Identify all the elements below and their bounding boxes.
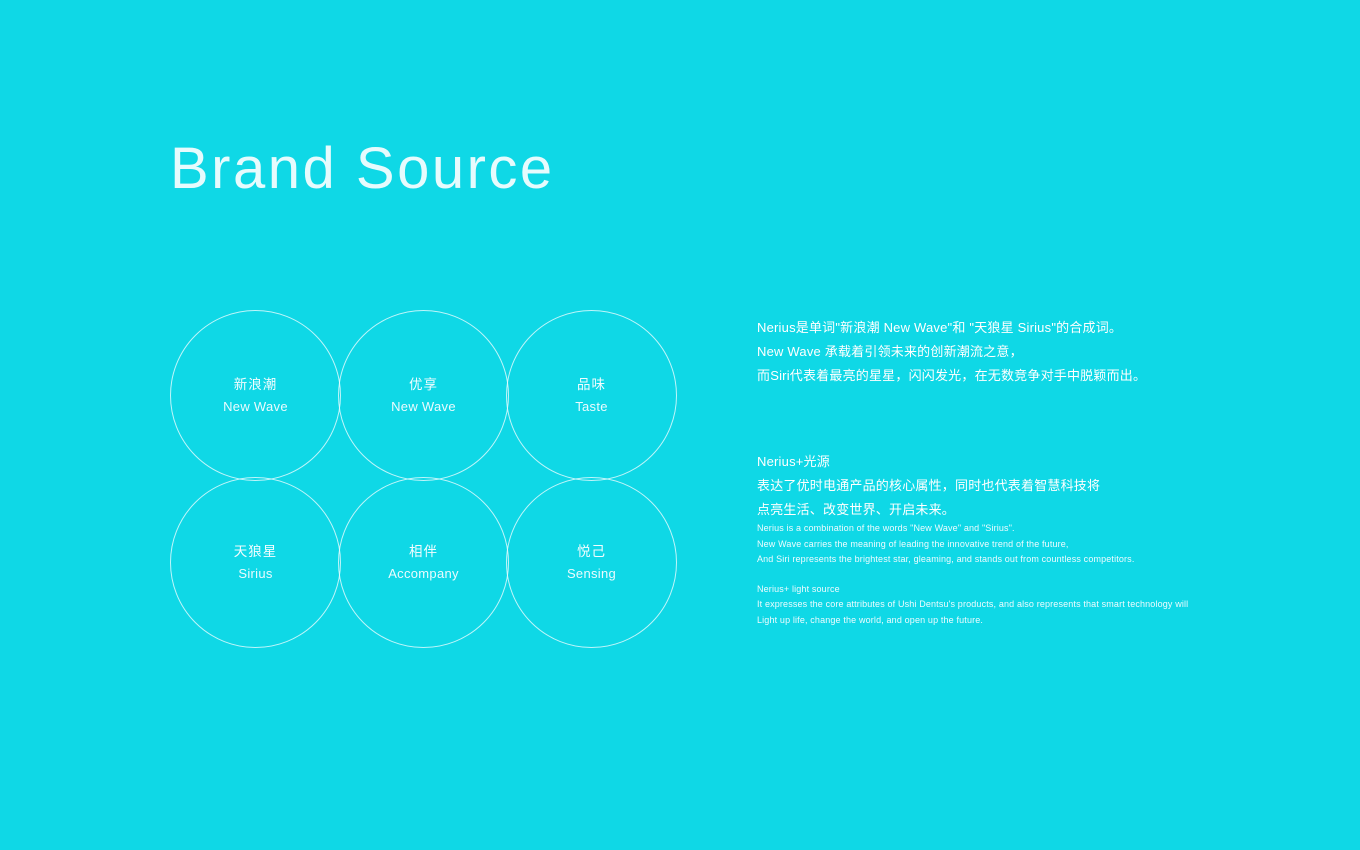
circle-label-en: Sensing bbox=[567, 566, 616, 583]
circle-label-en: Taste bbox=[575, 399, 608, 416]
slide-root: Brand Source 新浪潮 New Wave 优享 New Wave 品味… bbox=[0, 0, 1360, 850]
circle-label-cn: 新浪潮 bbox=[234, 375, 278, 395]
chinese-paragraph-1: Nerius是单词"新浪潮 New Wave"和 "天狼星 Sirius"的合成… bbox=[757, 316, 1217, 388]
brand-circle-sirius: 天狼星 Sirius bbox=[170, 477, 341, 648]
cn-p2-line3: 点亮生活、改变世界、开启未来。 bbox=[757, 498, 1217, 522]
circle-label-en: New Wave bbox=[223, 399, 288, 416]
chinese-paragraph-2: Nerius+光源 表达了优时电通产品的核心属性，同时也代表着智慧科技将 点亮生… bbox=[757, 450, 1217, 522]
en-p1-line1: Nerius is a combination of the words "Ne… bbox=[757, 521, 1217, 537]
cn-p2-heading: Nerius+光源 bbox=[757, 450, 1217, 474]
chinese-copy-column: Nerius是单词"新浪潮 New Wave"和 "天狼星 Sirius"的合成… bbox=[757, 316, 1217, 522]
circle-label-en: Accompany bbox=[388, 566, 459, 583]
circle-label-en: New Wave bbox=[391, 399, 456, 416]
cn-p1-line2: New Wave 承载着引领未来的创新潮流之意， bbox=[757, 340, 1217, 364]
circle-label-cn: 品味 bbox=[577, 375, 606, 395]
english-copy-column: Nerius is a combination of the words "Ne… bbox=[757, 521, 1217, 629]
circle-label-en: Sirius bbox=[238, 566, 272, 583]
english-paragraph-2: Nerius+ light source It expresses the co… bbox=[757, 582, 1217, 629]
en-p1-line2: New Wave carries the meaning of leading … bbox=[757, 537, 1217, 553]
cn-p1-line3: 而Siri代表着最亮的星星，闪闪发光，在无数竞争对手中脱颖而出。 bbox=[757, 364, 1217, 388]
brand-circle-taste: 品味 Taste bbox=[506, 310, 677, 481]
cn-p2-line2: 表达了优时电通产品的核心属性，同时也代表着智慧科技将 bbox=[757, 474, 1217, 498]
en-p1-line3: And Siri represents the brightest star, … bbox=[757, 552, 1217, 568]
brand-circle-sensing: 悦己 Sensing bbox=[506, 477, 677, 648]
circle-label-cn: 优享 bbox=[409, 375, 438, 395]
brand-circle-new-wave-2: 优享 New Wave bbox=[338, 310, 509, 481]
circle-label-cn: 天狼星 bbox=[234, 542, 278, 562]
en-p2-heading: Nerius+ light source bbox=[757, 582, 1217, 598]
cn-p1-line1: Nerius是单词"新浪潮 New Wave"和 "天狼星 Sirius"的合成… bbox=[757, 316, 1217, 340]
en-p2-line3: Light up life, change the world, and ope… bbox=[757, 613, 1217, 629]
brand-circle-new-wave-1: 新浪潮 New Wave bbox=[170, 310, 341, 481]
english-paragraph-1: Nerius is a combination of the words "Ne… bbox=[757, 521, 1217, 568]
brand-circle-diagram: 新浪潮 New Wave 优享 New Wave 品味 Taste 天狼星 Si… bbox=[170, 310, 682, 650]
page-title: Brand Source bbox=[170, 137, 555, 201]
brand-circle-accompany: 相伴 Accompany bbox=[338, 477, 509, 648]
en-p2-line2: It expresses the core attributes of Ushi… bbox=[757, 597, 1217, 613]
circle-label-cn: 悦己 bbox=[577, 542, 606, 562]
circle-label-cn: 相伴 bbox=[409, 542, 438, 562]
